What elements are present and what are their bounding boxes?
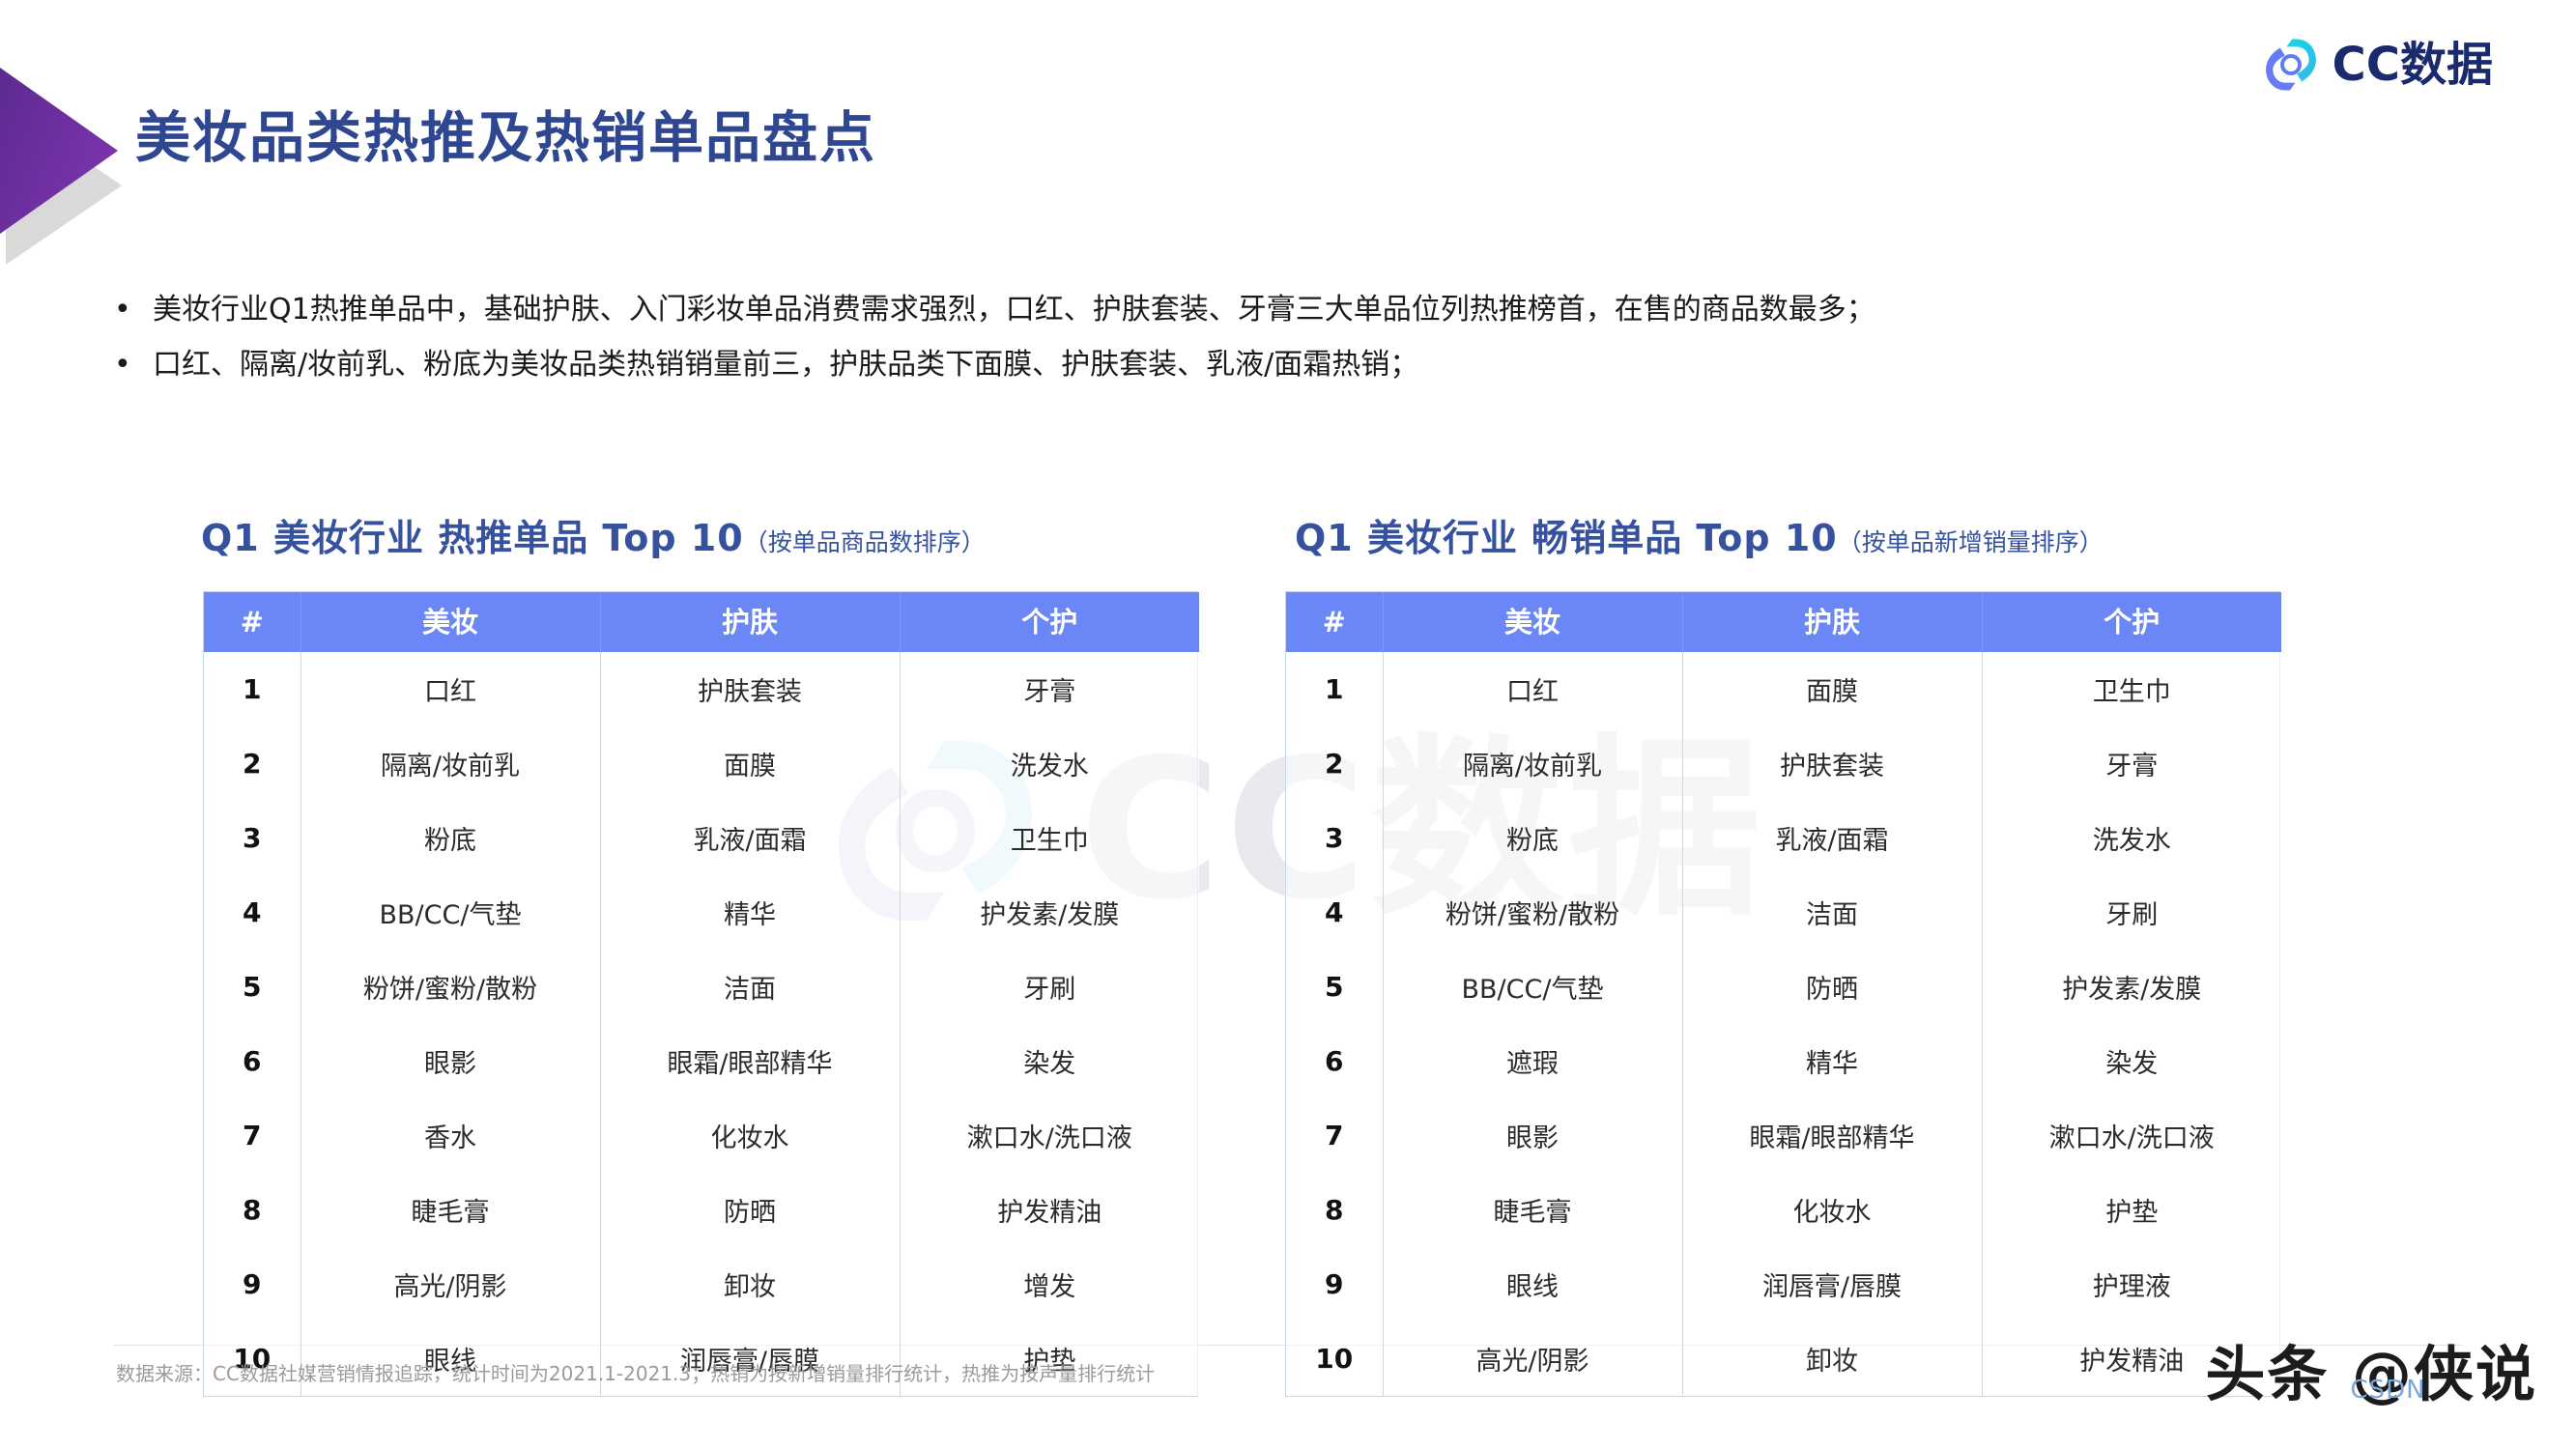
cell-skincare: 防晒 <box>600 1173 900 1247</box>
table-row: 3粉底乳液/面霜卫生巾 <box>204 801 1199 875</box>
table-header-row: # 美妆 护肤 个护 <box>204 592 1199 652</box>
column-header-index: # <box>204 592 301 652</box>
cell-index: 3 <box>1286 801 1383 875</box>
cell-personalcare: 增发 <box>900 1247 1199 1321</box>
table-row: 2隔离/妆前乳面膜洗发水 <box>204 726 1199 801</box>
table: # 美妆 护肤 个护 1口红面膜卫生巾 2隔离/妆前乳护肤套装牙膏 3粉底乳液/… <box>1286 592 2281 1396</box>
cell-personalcare: 护发素/发膜 <box>1982 950 2281 1024</box>
title-arrow-icon <box>0 58 126 241</box>
cell-personalcare: 护理液 <box>1982 1247 2281 1321</box>
table: # 美妆 护肤 个护 1口红护肤套装牙膏 2隔离/妆前乳面膜洗发水 3粉底乳液/… <box>204 592 1199 1396</box>
cell-makeup: 高光/阴影 <box>1383 1321 1682 1396</box>
cell-makeup: 高光/阴影 <box>301 1247 600 1321</box>
table-header: # 美妆 护肤 个护 <box>204 592 1199 652</box>
cell-index: 7 <box>204 1098 301 1173</box>
brand-logo: CC数据 <box>2263 35 2493 95</box>
cell-personalcare: 护垫 <box>1982 1173 2281 1247</box>
cell-makeup: 隔离/妆前乳 <box>301 726 600 801</box>
cell-personalcare: 护发素/发膜 <box>900 875 1199 950</box>
left-table-title-sub: （按单品商品数排序） <box>744 528 986 556</box>
cell-makeup: 睫毛膏 <box>1383 1173 1682 1247</box>
cell-makeup: BB/CC/气垫 <box>301 875 600 950</box>
cell-makeup: 粉饼/蜜粉/散粉 <box>1383 875 1682 950</box>
cell-skincare: 精华 <box>600 875 900 950</box>
cell-skincare: 防晒 <box>1682 950 1982 1024</box>
cell-personalcare: 染发 <box>900 1024 1199 1098</box>
table-row: 7香水化妆水漱口水/洗口液 <box>204 1098 1199 1173</box>
cell-index: 1 <box>204 652 301 726</box>
table-row: 8睫毛膏化妆水护垫 <box>1286 1173 2281 1247</box>
cell-makeup: 眼影 <box>301 1024 600 1098</box>
cell-makeup: 粉饼/蜜粉/散粉 <box>301 950 600 1024</box>
cell-makeup: 眼线 <box>1383 1247 1682 1321</box>
cell-skincare: 护肤套装 <box>1682 726 1982 801</box>
left-table-title: Q1 美妆行业 热推单品 Top 10（按单品商品数排序） <box>201 508 986 561</box>
table-row: 6遮瑕精华染发 <box>1286 1024 2281 1098</box>
cell-personalcare: 卫生巾 <box>900 801 1199 875</box>
corner-watermark-sub: CSDN <box>2350 1378 2425 1403</box>
cell-personalcare: 洗发水 <box>1982 801 2281 875</box>
bullet-marker-icon: • <box>114 290 153 331</box>
table-header-row: # 美妆 护肤 个护 <box>1286 592 2281 652</box>
right-table-title-sub: （按单品新增销量排序） <box>1838 528 2104 556</box>
cell-index: 2 <box>1286 726 1383 801</box>
hot-promoted-table: # 美妆 护肤 个护 1口红护肤套装牙膏 2隔离/妆前乳面膜洗发水 3粉底乳液/… <box>203 591 1198 1397</box>
cell-personalcare: 牙膏 <box>900 652 1199 726</box>
table-header: # 美妆 护肤 个护 <box>1286 592 2281 652</box>
corner-watermark: 头条 @侠说 CSDN <box>2205 1345 2537 1405</box>
cc-link-logo-icon <box>2263 35 2319 95</box>
cell-skincare: 眼霜/眼部精华 <box>1682 1098 1982 1173</box>
cell-makeup: 眼影 <box>1383 1098 1682 1173</box>
left-table-title-main: Q1 美妆行业 热推单品 Top 10 <box>201 517 744 559</box>
cell-skincare: 眼霜/眼部精华 <box>600 1024 900 1098</box>
cell-skincare: 乳液/面霜 <box>1682 801 1982 875</box>
right-table-title-main: Q1 美妆行业 畅销单品 Top 10 <box>1295 517 1838 559</box>
table-row: 8睫毛膏防晒护发精油 <box>204 1173 1199 1247</box>
cell-index: 10 <box>1286 1321 1383 1396</box>
cell-personalcare: 护发精油 <box>900 1173 1199 1247</box>
slide-root: CC数据 CC数据 美妆品 <box>0 0 2576 1449</box>
column-header-makeup: 美妆 <box>301 592 600 652</box>
cell-makeup: 粉底 <box>1383 801 1682 875</box>
column-header-personalcare: 个护 <box>1982 592 2281 652</box>
cell-makeup: 隔离/妆前乳 <box>1383 726 1682 801</box>
table-row: 4粉饼/蜜粉/散粉洁面牙刷 <box>1286 875 2281 950</box>
column-header-personalcare: 个护 <box>900 592 1199 652</box>
cell-index: 2 <box>204 726 301 801</box>
table-row: 6眼影眼霜/眼部精华染发 <box>204 1024 1199 1098</box>
table-row: 1口红护肤套装牙膏 <box>204 652 1199 726</box>
table-body: 1口红面膜卫生巾 2隔离/妆前乳护肤套装牙膏 3粉底乳液/面霜洗发水 4粉饼/蜜… <box>1286 652 2281 1396</box>
cell-personalcare: 牙刷 <box>1982 875 2281 950</box>
cell-index: 4 <box>1286 875 1383 950</box>
cell-index: 5 <box>1286 950 1383 1024</box>
brand-logo-text: CC数据 <box>2333 42 2493 88</box>
cell-personalcare: 牙膏 <box>1982 726 2281 801</box>
right-table-title: Q1 美妆行业 畅销单品 Top 10（按单品新增销量排序） <box>1295 508 2104 561</box>
page-title: 美妆品类热推及热销单品盘点 <box>135 108 876 169</box>
cell-skincare: 乳液/面霜 <box>600 801 900 875</box>
cell-skincare: 卸妆 <box>600 1247 900 1321</box>
bullet-item: • 口红、隔离/妆前乳、粉底为美妆品类热销销量前三，护肤品类下面膜、护肤套装、乳… <box>114 345 1875 386</box>
cell-skincare: 润唇膏/唇膜 <box>1682 1247 1982 1321</box>
table-row: 9眼线润唇膏/唇膜护理液 <box>1286 1247 2281 1321</box>
cell-index: 9 <box>1286 1247 1383 1321</box>
cell-index: 5 <box>204 950 301 1024</box>
best-selling-table: # 美妆 护肤 个护 1口红面膜卫生巾 2隔离/妆前乳护肤套装牙膏 3粉底乳液/… <box>1285 591 2280 1397</box>
cell-skincare: 化妆水 <box>1682 1173 1982 1247</box>
cell-index: 6 <box>204 1024 301 1098</box>
cell-personalcare: 卫生巾 <box>1982 652 2281 726</box>
column-header-skincare: 护肤 <box>1682 592 1982 652</box>
column-header-skincare: 护肤 <box>600 592 900 652</box>
cell-skincare: 卸妆 <box>1682 1321 1982 1396</box>
table-row: 1口红面膜卫生巾 <box>1286 652 2281 726</box>
cell-makeup: 口红 <box>301 652 600 726</box>
cell-skincare: 化妆水 <box>600 1098 900 1173</box>
bullet-marker-icon: • <box>114 345 153 386</box>
cell-index: 7 <box>1286 1098 1383 1173</box>
cell-index: 8 <box>204 1173 301 1247</box>
bullet-text: 口红、隔离/妆前乳、粉底为美妆品类热销销量前三，护肤品类下面膜、护肤套装、乳液/… <box>153 345 1875 386</box>
cell-index: 8 <box>1286 1173 1383 1247</box>
table-row: 7眼影眼霜/眼部精华漱口水/洗口液 <box>1286 1098 2281 1173</box>
table-row: 5粉饼/蜜粉/散粉洁面牙刷 <box>204 950 1199 1024</box>
cell-skincare: 护肤套装 <box>600 652 900 726</box>
cell-index: 3 <box>204 801 301 875</box>
cell-index: 6 <box>1286 1024 1383 1098</box>
cell-skincare: 面膜 <box>1682 652 1982 726</box>
table-body: 1口红护肤套装牙膏 2隔离/妆前乳面膜洗发水 3粉底乳液/面霜卫生巾 4BB/C… <box>204 652 1199 1396</box>
cell-makeup: BB/CC/气垫 <box>1383 950 1682 1024</box>
cell-personalcare: 牙刷 <box>900 950 1199 1024</box>
cell-index: 1 <box>1286 652 1383 726</box>
column-header-makeup: 美妆 <box>1383 592 1682 652</box>
table-row: 10高光/阴影卸妆护发精油 <box>1286 1321 2281 1396</box>
cell-skincare: 洁面 <box>600 950 900 1024</box>
cell-makeup: 睫毛膏 <box>301 1173 600 1247</box>
column-header-index: # <box>1286 592 1383 652</box>
summary-bullets: • 美妆行业Q1热推单品中，基础护肤、入门彩妆单品消费需求强烈，口红、护肤套装、… <box>114 290 1875 399</box>
table-row: 5BB/CC/气垫防晒护发素/发膜 <box>1286 950 2281 1024</box>
data-source-note: 数据来源：CC数据社媒营销情报追踪，统计时间为2021.1-2021.3；热销为… <box>116 1358 1155 1386</box>
cell-makeup: 香水 <box>301 1098 600 1173</box>
cell-makeup: 遮瑕 <box>1383 1024 1682 1098</box>
bullet-item: • 美妆行业Q1热推单品中，基础护肤、入门彩妆单品消费需求强烈，口红、护肤套装、… <box>114 290 1875 331</box>
table-row: 2隔离/妆前乳护肤套装牙膏 <box>1286 726 2281 801</box>
table-row: 4BB/CC/气垫精华护发素/发膜 <box>204 875 1199 950</box>
table-row: 3粉底乳液/面霜洗发水 <box>1286 801 2281 875</box>
bullet-text: 美妆行业Q1热推单品中，基础护肤、入门彩妆单品消费需求强烈，口红、护肤套装、牙膏… <box>153 290 1875 331</box>
cell-skincare: 精华 <box>1682 1024 1982 1098</box>
cell-skincare: 洁面 <box>1682 875 1982 950</box>
cell-index: 4 <box>204 875 301 950</box>
cell-personalcare: 洗发水 <box>900 726 1199 801</box>
cell-makeup: 粉底 <box>301 801 600 875</box>
cell-personalcare: 染发 <box>1982 1024 2281 1098</box>
cell-personalcare: 漱口水/洗口液 <box>1982 1098 2281 1173</box>
table-row: 9高光/阴影卸妆增发 <box>204 1247 1199 1321</box>
cell-personalcare: 漱口水/洗口液 <box>900 1098 1199 1173</box>
cell-makeup: 口红 <box>1383 652 1682 726</box>
cell-index: 9 <box>204 1247 301 1321</box>
cell-skincare: 面膜 <box>600 726 900 801</box>
